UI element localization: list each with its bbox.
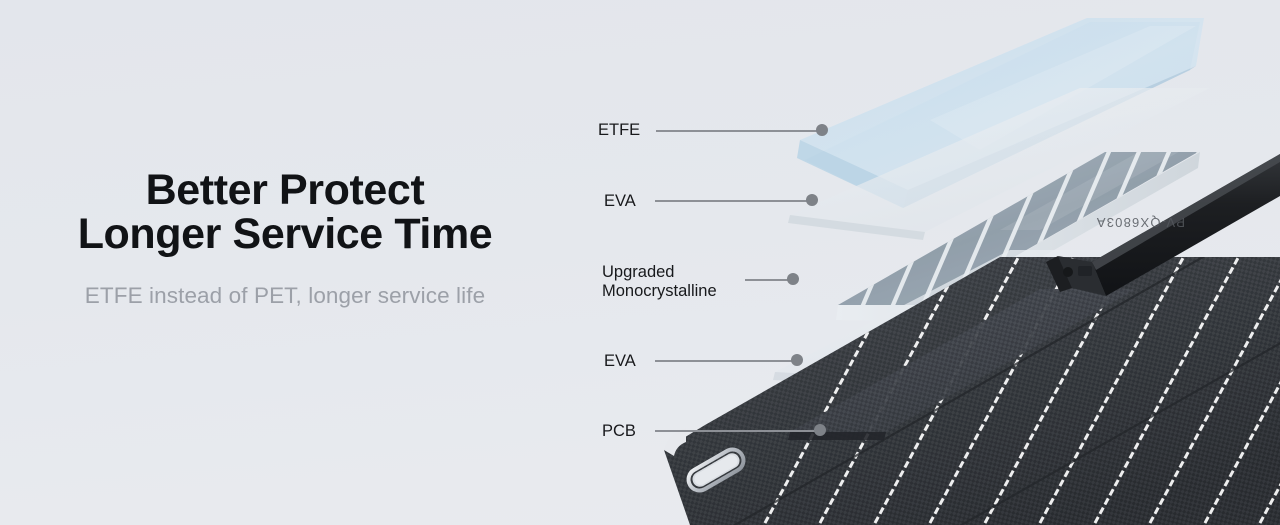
copy-block: Better Protect Longer Service Time ETFE …	[0, 168, 570, 309]
headline-line-1: Better Protect	[0, 168, 570, 212]
callout-leader-line-eva-lower	[655, 360, 797, 362]
callout-label-text-line2: Monocrystalline	[602, 282, 717, 301]
callout-label-text: ETFE	[598, 121, 640, 139]
callout-label-pcb: PCB	[602, 422, 636, 441]
leader-dot-icon-eva-lower	[791, 354, 803, 366]
junction-box-marking: PV-QX6803A	[1096, 215, 1185, 230]
leader-dot-icon-upgraded-monocrystalline	[787, 273, 799, 285]
subheadline: ETFE instead of PET, longer service life	[0, 283, 570, 309]
callout-label-etfe-top: ETFE	[598, 121, 640, 140]
leader-dot-icon-eva-upper	[806, 194, 818, 206]
callout-leader-line-etfe-top	[656, 130, 822, 132]
callout-leader-line-upgraded-monocrystalline	[745, 279, 793, 281]
leader-dot-icon-pcb	[814, 424, 826, 436]
callout-label-text: EVA	[604, 352, 636, 370]
callout-label-upgraded-monocrystalline: UpgradedMonocrystalline	[602, 263, 717, 302]
callout-label-text: Upgraded	[602, 263, 674, 281]
callout-label-eva-upper: EVA	[604, 192, 636, 211]
headline-line-2: Longer Service Time	[0, 212, 570, 256]
callout-label-text: EVA	[604, 192, 636, 210]
callout-leader-line-eva-upper	[655, 200, 812, 202]
page-title: Better Protect Longer Service Time	[0, 168, 570, 257]
promo-banner: PV-QX6803A Better Protect Longer Service…	[0, 0, 1280, 525]
callout-label-text: PCB	[602, 422, 636, 440]
callout-leader-line-pcb	[655, 430, 820, 432]
leader-dot-icon-etfe-top	[816, 124, 828, 136]
callout-label-eva-lower: EVA	[604, 352, 636, 371]
